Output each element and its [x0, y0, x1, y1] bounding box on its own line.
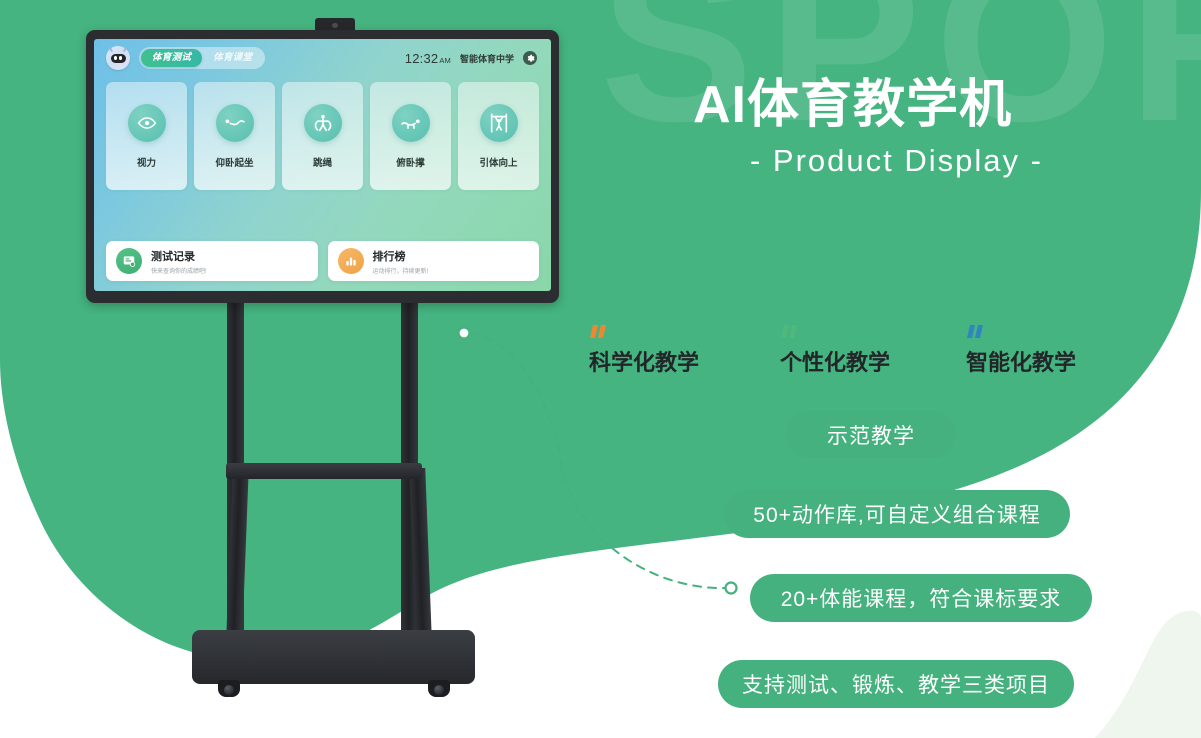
app-card-label: 跳绳	[313, 155, 332, 169]
status-clock: 12:32AM	[405, 51, 451, 66]
screen-tab-group[interactable]: 体育测试 体育课堂	[139, 47, 265, 69]
caster-wheel-right	[428, 680, 450, 697]
pullup-icon	[480, 104, 518, 142]
eye-icon	[128, 104, 166, 142]
jump-rope-icon	[304, 104, 342, 142]
device-bezel: 体育测试 体育课堂 12:32AM 智能体育中学	[86, 30, 559, 303]
caster-wheel-left	[218, 680, 240, 697]
shortcut-leaderboard[interactable]: 排行榜 运动排行，持续更新!	[328, 241, 540, 281]
stand-base	[192, 630, 475, 684]
tab-sports-test[interactable]: 体育测试	[141, 49, 202, 67]
interactive-display-device: 体育测试 体育课堂 12:32AM 智能体育中学	[86, 30, 559, 303]
app-card-jumprope[interactable]: 跳绳	[282, 82, 363, 190]
shortcut-row: 测试记录 快来查询你的成绩吧!	[106, 241, 539, 281]
app-card-pullup[interactable]: 引体向上	[458, 82, 539, 190]
screen-header: 体育测试 体育课堂 12:32AM 智能体育中学	[94, 39, 551, 77]
record-list-icon	[116, 248, 142, 274]
device-screen: 体育测试 体育课堂 12:32AM 智能体育中学	[94, 39, 551, 291]
app-card-label: 引体向上	[479, 155, 517, 169]
screen-status-area: 12:32AM 智能体育中学	[405, 51, 537, 66]
app-card-situp[interactable]: 仰卧起坐	[194, 82, 275, 190]
app-card-label: 仰卧起坐	[215, 155, 253, 169]
status-school-name: 智能体育中学	[460, 52, 514, 65]
tab-sports-class[interactable]: 体育课堂	[202, 49, 263, 67]
app-card-label: 视力	[137, 155, 156, 169]
shortcut-text: 排行榜 运动排行，持续更新!	[373, 248, 429, 275]
robot-avatar-icon	[106, 46, 130, 70]
poster-canvas: SPORTS	[0, 0, 1201, 738]
app-card-pushup[interactable]: 俯卧撑	[370, 82, 451, 190]
shortcut-subtitle: 快来查询你的成绩吧!	[151, 266, 207, 275]
robot-eye-left	[114, 56, 117, 60]
shortcut-title: 测试记录	[151, 248, 207, 264]
app-grid: 视力 仰卧起坐	[106, 82, 539, 190]
robot-face	[111, 54, 126, 63]
stand-shelf	[226, 463, 422, 479]
shortcut-test-records[interactable]: 测试记录 快来查询你的成绩吧!	[106, 241, 318, 281]
clock-time: 12:32	[405, 51, 439, 66]
robot-eye-right	[119, 56, 122, 60]
app-card-vision[interactable]: 视力	[106, 82, 187, 190]
gear-icon[interactable]	[523, 51, 537, 65]
app-card-label: 俯卧撑	[396, 155, 425, 169]
shortcut-title: 排行榜	[373, 248, 429, 264]
bar-chart-icon	[338, 248, 364, 274]
situp-icon	[216, 104, 254, 142]
shortcut-subtitle: 运动排行，持续更新!	[373, 266, 429, 275]
pushup-icon	[392, 104, 430, 142]
shortcut-text: 测试记录 快来查询你的成绩吧!	[151, 248, 207, 275]
clock-meridiem: AM	[439, 56, 451, 65]
